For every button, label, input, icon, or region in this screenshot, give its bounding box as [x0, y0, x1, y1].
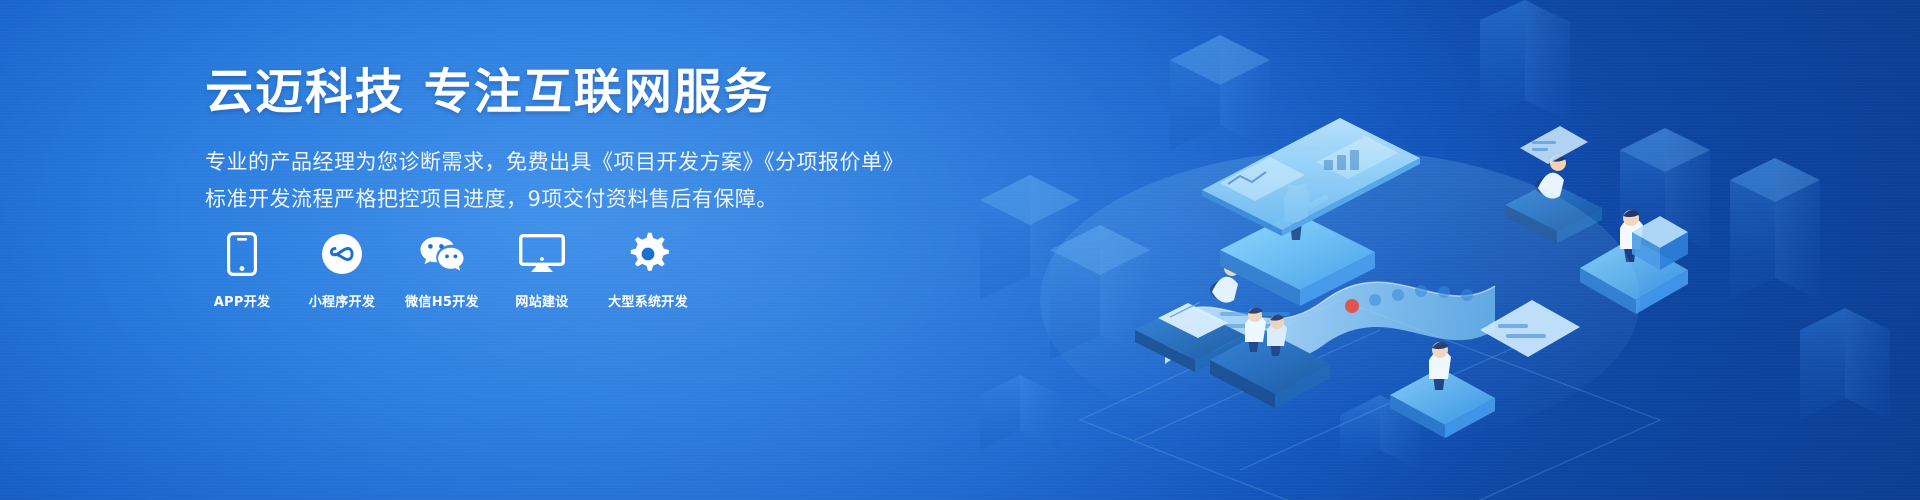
service-item-website[interactable]: 网站建设	[505, 230, 579, 310]
monitor-icon	[519, 230, 565, 278]
service-item-miniprogram[interactable]: 小程序开发	[305, 230, 379, 310]
service-label-wechat: 微信H5开发	[405, 291, 479, 310]
service-label-miniprogram: 小程序开发	[309, 291, 376, 310]
mini-program-icon	[321, 230, 363, 278]
service-item-system[interactable]: 大型系统开发	[605, 230, 691, 310]
hero-illustration	[920, 0, 1920, 500]
service-item-app[interactable]: APP开发	[205, 230, 279, 310]
gear-icon	[626, 230, 670, 278]
hero-subtitle: 专业的产品经理为您诊断需求，免费出具《项目开发方案》《分项报价单》 标准开发流程…	[205, 144, 945, 218]
service-label-app: APP开发	[214, 291, 271, 310]
service-item-wechat[interactable]: 微信H5开发	[405, 230, 479, 310]
service-label-website: 网站建设	[515, 291, 568, 310]
service-icon-row: APP开发 小程序开发 微信	[205, 230, 691, 310]
service-label-system: 大型系统开发	[608, 291, 688, 310]
subtitle-line-1: 专业的产品经理为您诊断需求，免费出具《项目开发方案》《分项报价单》	[205, 144, 945, 181]
mobile-phone-icon	[227, 230, 257, 278]
hero-banner: 云迈科技 专注互联网服务 专业的产品经理为您诊断需求，免费出具《项目开发方案》《…	[0, 0, 1920, 500]
subtitle-line-2: 标准开发流程严格把控项目进度，9项交付资料售后有保障。	[205, 181, 945, 218]
wechat-icon	[419, 230, 465, 278]
hero-content: 云迈科技 专注互联网服务 专业的产品经理为您诊断需求，免费出具《项目开发方案》《…	[205, 62, 945, 218]
page-title: 云迈科技 专注互联网服务	[205, 62, 945, 122]
